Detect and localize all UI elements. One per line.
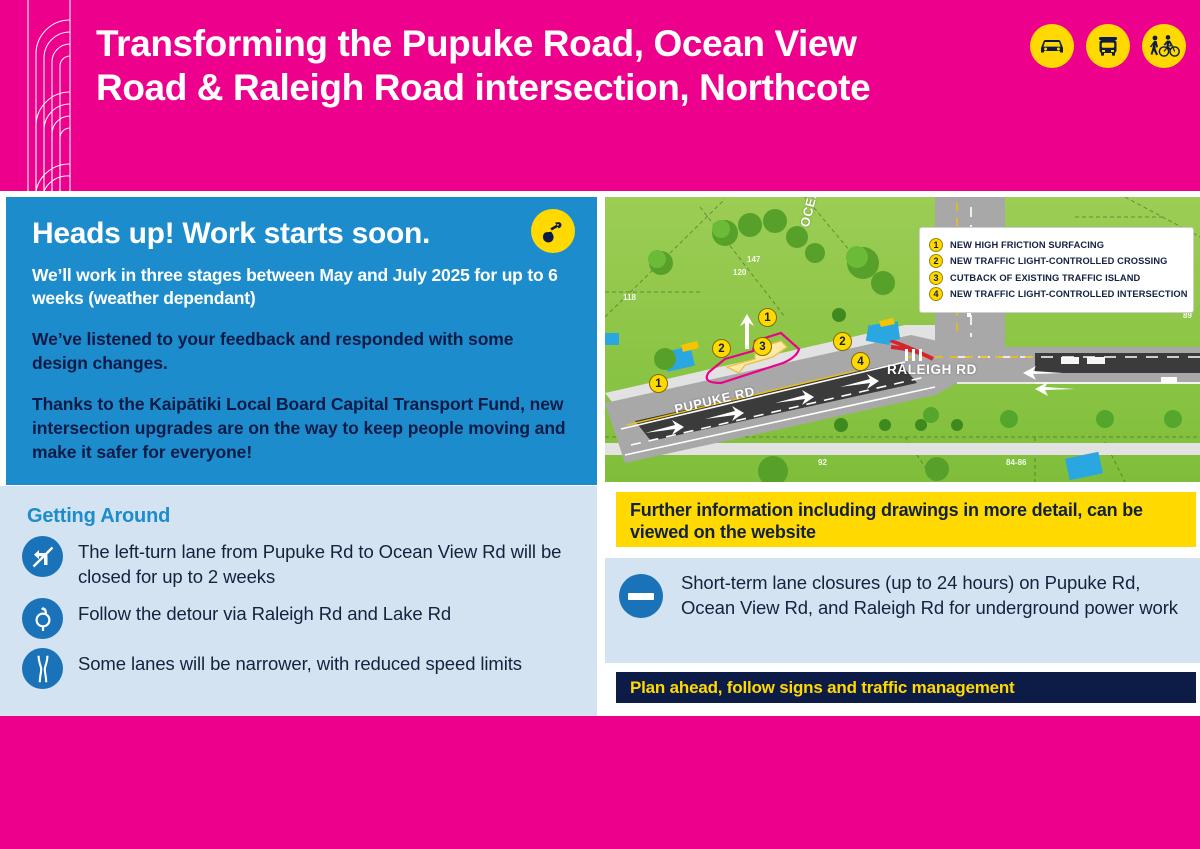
intersection-map[interactable]: OCEAN VIEW RD PUPUKE RD RALEIGH RD 118 1… — [605, 197, 1200, 482]
map-marker[interactable]: 2 — [712, 339, 731, 358]
legend-number: 4 — [929, 287, 943, 301]
list-item: Short-term lane closures (up to 24 hours… — [605, 558, 1200, 620]
legend-item: 2 NEW TRAFFIC LIGHT-CONTROLLED CROSSING — [929, 254, 1184, 268]
legend-label: NEW TRAFFIC LIGHT-CONTROLLED INTERSECTIO… — [950, 289, 1188, 299]
legend-item: 1 NEW HIGH FRICTION SURFACING — [929, 238, 1184, 252]
parcel-number: 120 — [733, 268, 746, 277]
map-marker[interactable]: 2 — [833, 332, 852, 351]
header-banner: Transforming the Pupuke Road, Ocean View… — [0, 0, 1200, 191]
shovel-icon — [531, 209, 575, 253]
legend-number: 1 — [929, 238, 943, 252]
map-legend: 1 NEW HIGH FRICTION SURFACING 2 NEW TRAF… — [919, 227, 1194, 313]
closures-text: Short-term lane closures (up to 24 hours… — [681, 570, 1186, 620]
car-icon — [1030, 24, 1074, 68]
legend-label: CUTBACK OF EXISTING TRAFFIC ISLAND — [950, 273, 1140, 283]
list-item-label: Some lanes will be narrower, with reduce… — [78, 648, 522, 676]
plan-ahead-banner: Plan ahead, follow signs and traffic man… — [616, 672, 1196, 703]
legend-number: 3 — [929, 271, 943, 285]
no-entry-bar — [628, 593, 654, 600]
page-title: Transforming the Pupuke Road, Ocean View… — [96, 22, 956, 110]
koru-pattern-decoration — [24, 0, 74, 191]
list-item: The left-turn lane from Pupuke Rd to Oce… — [22, 536, 582, 589]
heads-up-heading: Heads up! Work starts soon. — [32, 217, 571, 251]
map-marker[interactable]: 4 — [851, 352, 870, 371]
getting-around-list: The left-turn lane from Pupuke Rd to Oce… — [22, 536, 582, 698]
pedestrian-cyclist-icon — [1142, 24, 1186, 68]
bus-icon — [1086, 24, 1130, 68]
parcel-number: 92 — [818, 458, 827, 467]
parcel-number: 118 — [623, 293, 636, 302]
funding-paragraph: Thanks to the Kaipātiki Local Board Capi… — [32, 392, 571, 464]
detour-roundabout-icon — [22, 598, 63, 639]
legend-item: 4 NEW TRAFFIC LIGHT-CONTROLLED INTERSECT… — [929, 287, 1184, 301]
legend-number: 2 — [929, 254, 943, 268]
further-information-text: Further information including drawings i… — [630, 499, 1182, 543]
legend-item: 3 CUTBACK OF EXISTING TRAFFIC ISLAND — [929, 271, 1184, 285]
closures-panel: Short-term lane closures (up to 24 hours… — [605, 558, 1200, 663]
work-schedule-text: We’ll work in three stages between May a… — [32, 264, 571, 310]
feedback-paragraph: We’ve listened to your feedback and resp… — [32, 327, 571, 375]
further-information-banner: Further information including drawings i… — [616, 492, 1196, 547]
plan-ahead-text: Plan ahead, follow signs and traffic man… — [630, 678, 1015, 698]
heads-up-panel: Heads up! Work starts soon. We’ll work i… — [6, 197, 597, 485]
map-marker[interactable]: 3 — [753, 337, 772, 356]
list-item-label: Follow the detour via Raleigh Rd and Lak… — [78, 598, 451, 626]
map-marker[interactable]: 1 — [649, 374, 668, 393]
legend-label: NEW HIGH FRICTION SURFACING — [950, 240, 1104, 250]
legend-label: NEW TRAFFIC LIGHT-CONTROLLED CROSSING — [950, 256, 1168, 266]
map-marker[interactable]: 1 — [758, 308, 777, 327]
no-entry-icon — [619, 574, 663, 618]
mode-icon-group — [1030, 24, 1186, 68]
narrow-lanes-icon — [22, 648, 63, 689]
getting-around-title: Getting Around — [27, 505, 170, 528]
list-item: Some lanes will be narrower, with reduce… — [22, 648, 582, 689]
parcel-number: 147 — [747, 255, 760, 264]
list-item: Follow the detour via Raleigh Rd and Lak… — [22, 598, 582, 639]
no-left-turn-icon — [22, 536, 63, 577]
list-item-label: The left-turn lane from Pupuke Rd to Oce… — [78, 536, 582, 589]
getting-around-panel: Getting Around The left-turn lane from P… — [0, 486, 597, 716]
footer-banner: For more information scan the QR code or… — [0, 716, 1200, 849]
road-label-raleigh-rd: RALEIGH RD — [887, 362, 977, 377]
parcel-number: 84-86 — [1006, 458, 1026, 467]
poster-root: Transforming the Pupuke Road, Ocean View… — [0, 0, 1200, 849]
